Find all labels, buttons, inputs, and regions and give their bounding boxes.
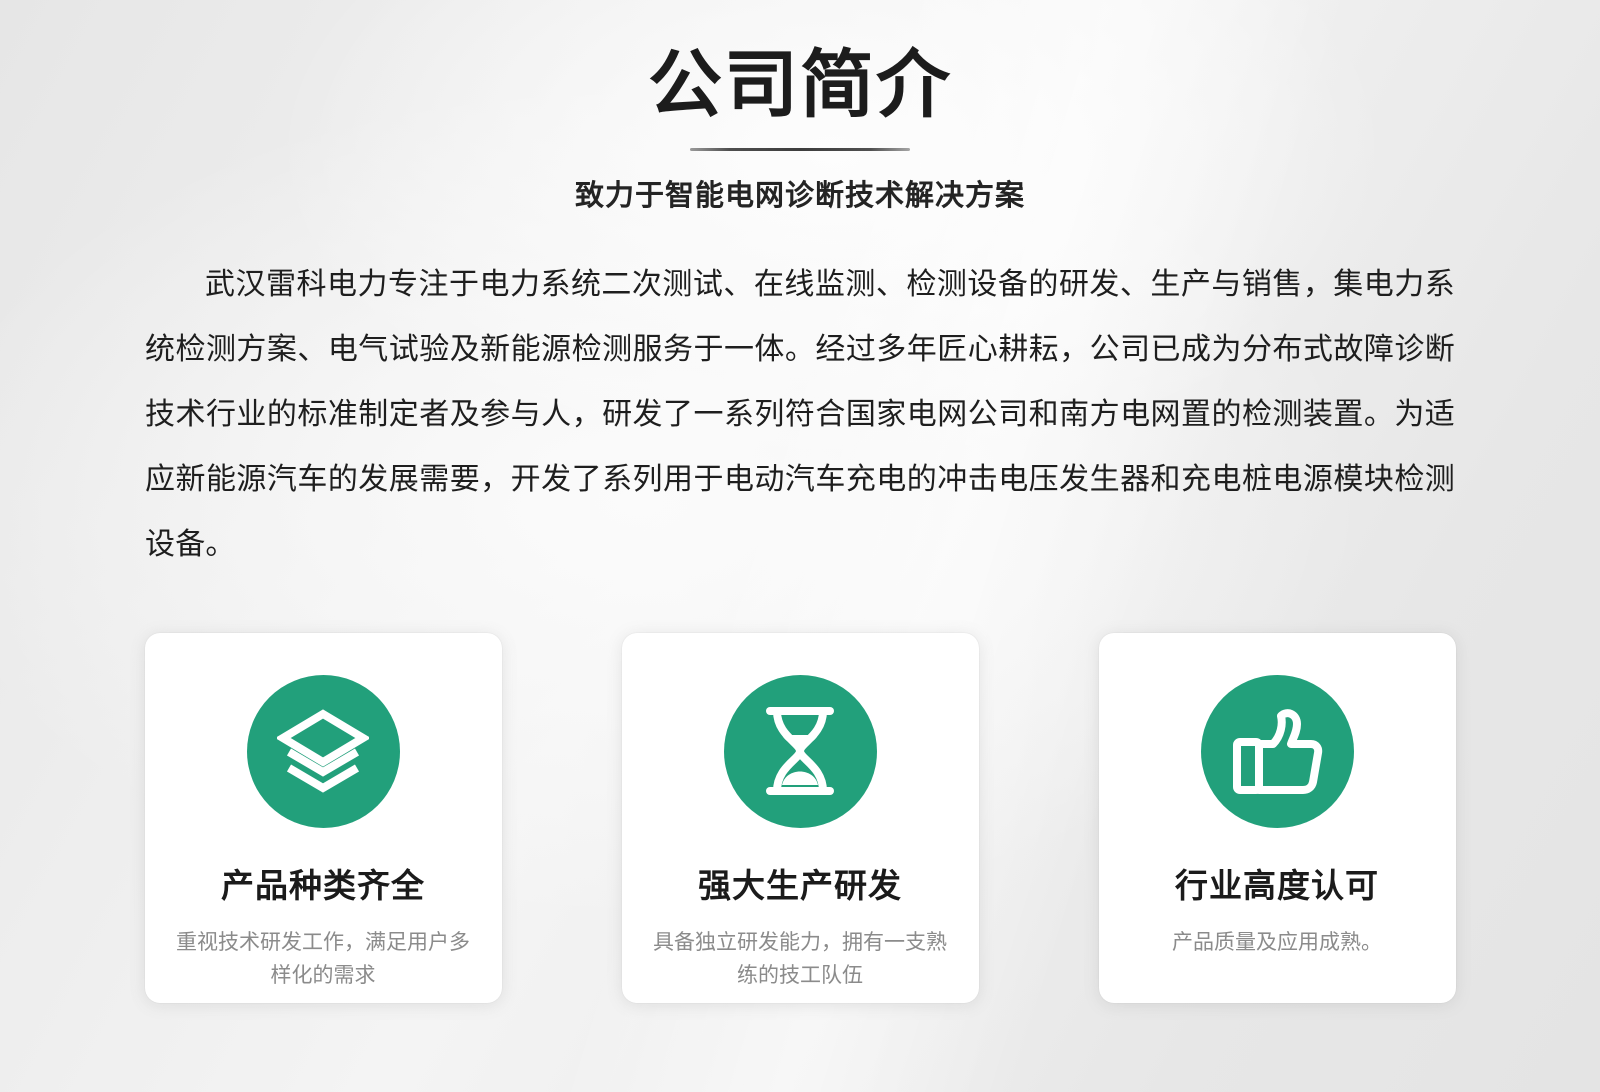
company-intro-paragraph: 武汉雷科电力专注于电力系统二次测试、在线监测、检测设备的研发、生产与销售，集电力… — [145, 252, 1455, 577]
page-subtitle: 致力于智能电网诊断技术解决方案 — [0, 172, 1600, 214]
card-description: 重视技术研发工作，满足用户多样化的需求 — [173, 926, 473, 992]
hourglass-icon — [762, 705, 838, 797]
icon-badge — [724, 675, 877, 828]
card-description: 具备独立研发能力，拥有一支熟练的技工队伍 — [650, 926, 950, 992]
icon-badge — [247, 675, 400, 828]
card-title: 产品种类齐全 — [221, 859, 425, 907]
layers-icon — [277, 708, 369, 794]
feature-card-list: 产品种类齐全 重视技术研发工作，满足用户多样化的需求 — [0, 633, 1600, 1003]
feature-card-rnd-capability[interactable]: 强大生产研发 具备独立研发能力，拥有一支熟练的技工队伍 — [622, 633, 979, 1003]
thumbs-up-icon — [1231, 706, 1323, 796]
feature-card-industry-recognition[interactable]: 行业高度认可 产品质量及应用成熟。 — [1099, 633, 1456, 1003]
card-title: 强大生产研发 — [698, 859, 902, 907]
icon-badge — [1201, 675, 1354, 828]
page-header: 公司简介 致力于智能电网诊断技术解决方案 — [0, 0, 1600, 214]
page-title: 公司简介 — [0, 44, 1600, 127]
feature-card-product-range[interactable]: 产品种类齐全 重视技术研发工作，满足用户多样化的需求 — [145, 633, 502, 1003]
title-divider — [690, 148, 910, 151]
card-title: 行业高度认可 — [1175, 859, 1379, 907]
card-description: 产品质量及应用成熟。 — [1127, 926, 1427, 959]
page-background: 公司简介 致力于智能电网诊断技术解决方案 武汉雷科电力专注于电力系统二次测试、在… — [0, 0, 1600, 1092]
